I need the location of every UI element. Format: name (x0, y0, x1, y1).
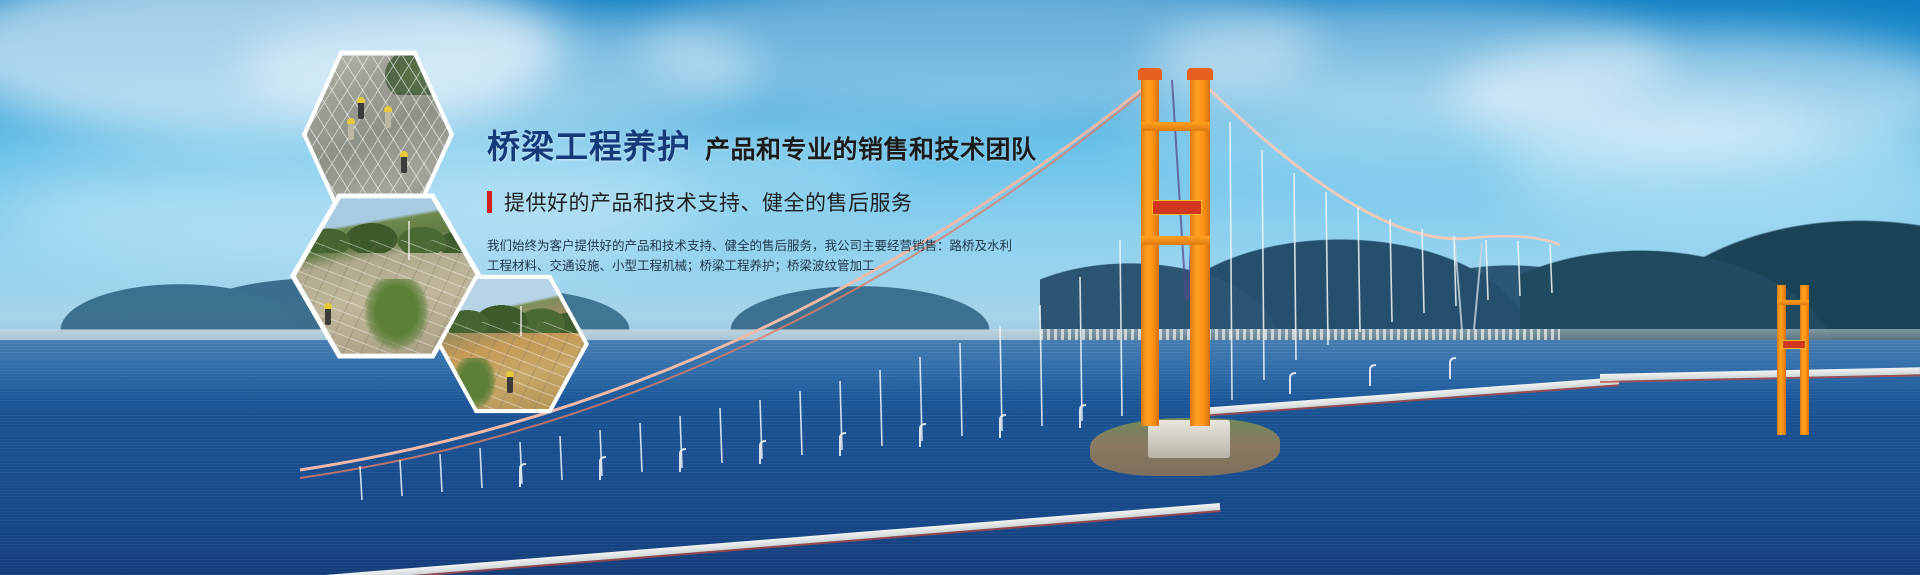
photo-worker (507, 376, 513, 393)
banner-copy: 桥梁工程养护 产品和专业的销售和技术团队 提供好的产品和技术支持、健全的售后服务… (487, 120, 1047, 276)
suspension-bridge (0, 0, 1920, 575)
body-copy: 我们始终为客户提供好的产品和技术支持、健全的售后服务，我公司主要经营销售：路桥及… (487, 236, 887, 276)
deck-lamp-posts (0, 0, 1920, 575)
headline-secondary: 产品和专业的销售和技术团队 (705, 130, 1037, 166)
hex-photo-roadside-slope-protection[interactable] (437, 272, 589, 416)
body-line-1: 我们始终为客户提供好的产品和技术支持、健全的售后服务，我公司主要经营销售：路桥及… (487, 236, 887, 256)
photo-worker (358, 102, 364, 119)
photo-foreground-shrub (453, 358, 496, 409)
accent-bar-icon (487, 191, 492, 213)
photo-utility-pole (520, 306, 522, 336)
subheadline-text: 提供好的产品和技术支持、健全的售后服务 (504, 187, 913, 217)
subheadline-row: 提供好的产品和技术支持、健全的售后服务 (487, 187, 1047, 217)
photo-worker (401, 156, 407, 173)
headline-row: 桥梁工程养护 产品和专业的销售和技术团队 (487, 120, 1047, 168)
photo-utility-pole (408, 221, 410, 260)
hex-image-clip (442, 276, 585, 411)
photo-worker (385, 111, 391, 128)
headline-primary: 桥梁工程养护 (487, 120, 691, 168)
hex-frame (437, 272, 589, 416)
photo-roadside-slope (442, 276, 585, 411)
photo-foreground-tree (364, 279, 429, 350)
body-line-2: 工程材料、交通设施、小型工程机械；桥梁工程养护；桥梁波纹管加工 (487, 256, 887, 276)
photo-worker (348, 123, 354, 140)
photo-worker (325, 308, 331, 325)
promotional-banner: 桥梁工程养护 产品和专业的销售和技术团队 提供好的产品和技术支持、健全的售后服务… (0, 0, 1920, 575)
